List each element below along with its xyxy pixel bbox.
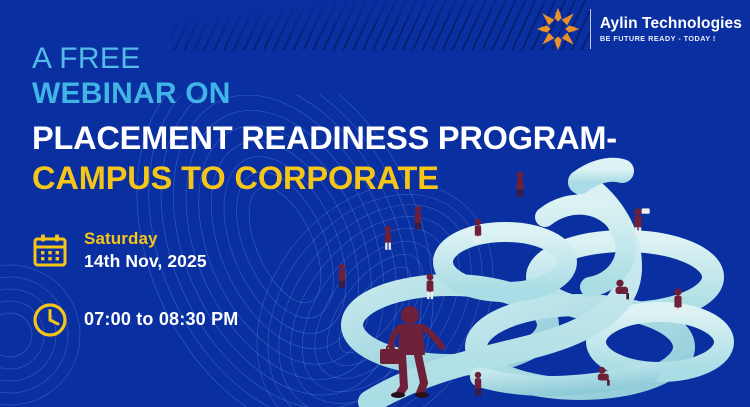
wave-mesh-decoration <box>255 190 515 407</box>
event-date-text: Saturday 14th Nov, 2025 <box>84 228 207 274</box>
event-details-block: Saturday 14th Nov, 2025 07:00 to 08:30 P… <box>30 228 238 340</box>
headline-line-webinar: WEBINAR ON <box>32 76 617 113</box>
event-date-row: Saturday 14th Nov, 2025 <box>30 228 238 274</box>
company-tagline: BE FUTURE READY - TODAY ! <box>600 34 742 43</box>
headline-line-campus: CAMPUS TO CORPORATE <box>32 159 617 198</box>
headline-block: A FREE WEBINAR ON PLACEMENT READINESS PR… <box>32 43 617 198</box>
logo-text-block: Aylin Technologies BE FUTURE READY - TOD… <box>600 15 742 43</box>
calendar-icon <box>30 231 70 271</box>
event-day: Saturday <box>84 228 207 250</box>
foreground-figure <box>380 306 442 398</box>
headline-line-free: A FREE <box>32 43 617 74</box>
event-time: 07:00 to 08:30 PM <box>84 309 238 330</box>
event-date: 14th Nov, 2025 <box>84 250 207 273</box>
clock-icon <box>30 300 70 340</box>
webinar-banner: Aylin Technologies BE FUTURE READY - TOD… <box>0 0 750 407</box>
company-name: Aylin Technologies <box>600 15 742 32</box>
event-time-row: 07:00 to 08:30 PM <box>30 300 238 340</box>
headline-line-program: PLACEMENT READINESS PROGRAM- <box>32 119 617 158</box>
